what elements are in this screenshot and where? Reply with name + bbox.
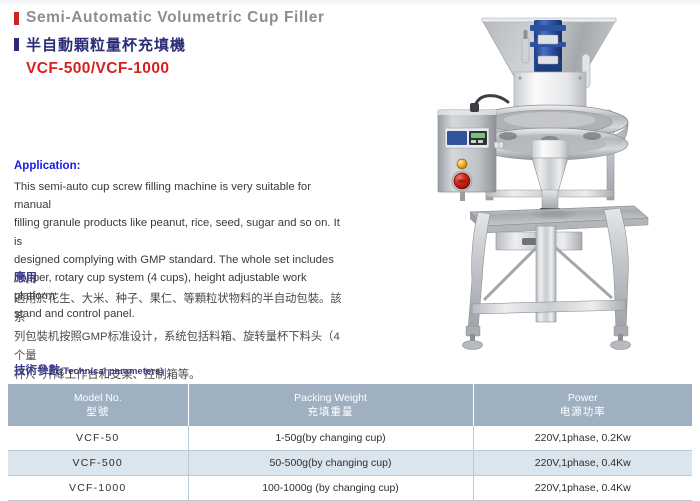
machine-photo [404,4,696,360]
cell-power: 220V,1phase, 0.4Kw [473,451,692,476]
technical-parameters-heading: 技術參數(Technical parameters) [14,362,163,378]
title-cn-row: 半自動顆粒量杯充填機 [14,32,434,56]
technical-parameters-table: Model No. 型號 Packing Weight 充填重量 Power 电… [8,384,692,501]
column-header-power-en: Power [568,392,598,404]
cell-model: VCF-1000 [8,476,188,501]
table-row: VCF-500 50-500g(by changing cup) 220V,1p… [8,451,692,476]
column-header-power: Power 电源功率 [473,384,692,426]
table-header-row: Model No. 型號 Packing Weight 充填重量 Power 电… [8,384,692,426]
column-header-model-cn: 型號 [10,405,186,419]
leveling-feet-icon [463,334,631,350]
table-row: VCF-50 1-50g(by changing cup) 220V,1phas… [8,426,692,451]
discharge-cone-icon [532,140,568,213]
column-header-model-en: Model No. [74,392,122,404]
application-line: This semi-auto cup screw filling machine… [14,178,344,214]
cell-power: 220V,1phase, 0.2Kw [473,426,692,451]
application-heading-english: Application: [14,158,344,175]
technical-parameters-heading-cn: 技術參數 [14,365,60,377]
square-bullet-icon-cn [14,38,19,51]
cell-power: 220V,1phase, 0.4Kw [473,476,692,501]
power-cable-icon [474,96,508,110]
application-line: designed complying with GMP standard. Th… [14,251,344,269]
column-header-model: Model No. 型號 [8,384,188,426]
panel-leg-icon [460,192,465,201]
yellow-indicator-lamp-icon[interactable] [457,159,467,169]
application-line-cn: 列包裝机按照GMP标准设计，系统包括料箱、旋转量杯下料头（4个量 [14,328,344,366]
application-line-cn: 適用於花生、大米、种子、果仁、等顆粒状物料的半自动包裝。該系 [14,290,344,328]
square-bullet-icon-en [14,12,19,25]
product-model-number: VCF-500/VCF-1000 [26,60,434,78]
technical-parameters-heading-en: (Technical parameters) [60,366,163,377]
title-en-row: Semi-Automatic Volumetric Cup Filler [14,8,434,28]
product-header: Semi-Automatic Volumetric Cup Filler 半自動… [14,8,434,78]
panel-mount-arm-icon [494,142,504,148]
cell-packing-weight: 1-50g(by changing cup) [188,426,473,451]
application-line: filling granule products like peanut, ri… [14,214,344,250]
column-header-packing-weight-en: Packing Weight [294,392,367,404]
product-title-english: Semi-Automatic Volumetric Cup Filler [26,8,325,28]
application-heading-chinese: 應用 [14,270,344,287]
technical-parameters-table-wrapper: Model No. 型號 Packing Weight 充填重量 Power 电… [8,384,692,501]
table-row: VCF-1000 100-1000g (by changing cup) 220… [8,476,692,501]
cell-model: VCF-500 [8,451,188,476]
column-header-packing-weight: Packing Weight 充填重量 [188,384,473,426]
cell-model: VCF-50 [8,426,188,451]
product-title-chinese: 半自動顆粒量杯充填機 [26,35,186,56]
cell-packing-weight: 50-500g(by changing cup) [188,451,473,476]
column-header-power-cn: 电源功率 [476,405,691,419]
column-header-packing-weight-cn: 充填重量 [191,405,471,419]
product-datasheet-page: Semi-Automatic Volumetric Cup Filler 半自動… [0,0,700,476]
cell-packing-weight: 100-1000g (by changing cup) [188,476,473,501]
machine-illustration [404,4,696,360]
